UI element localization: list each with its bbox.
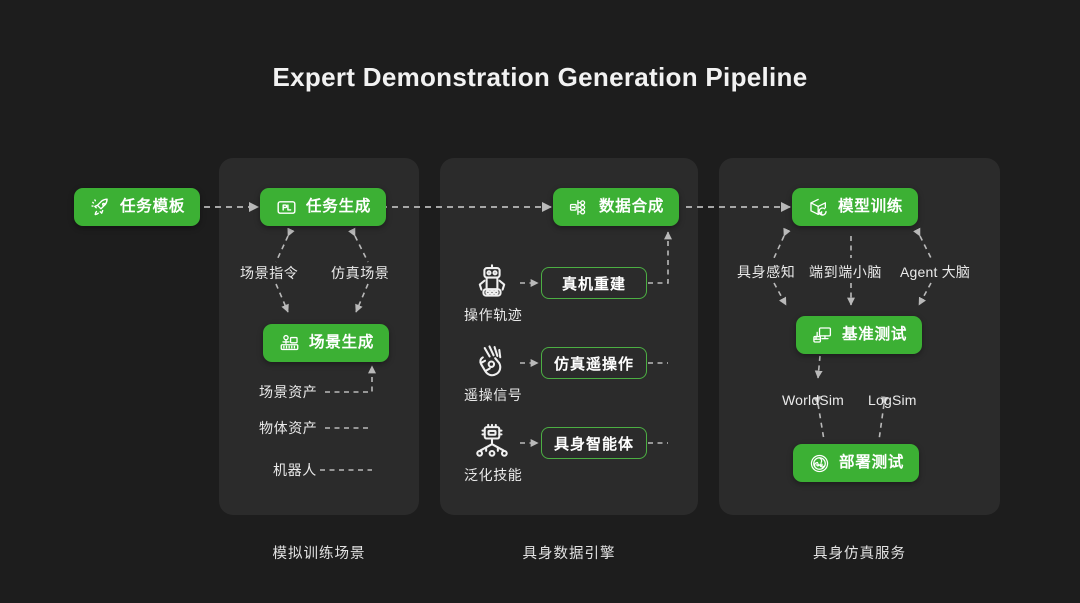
box-label: 仿真遥操作 [554, 353, 634, 374]
box-sim-teleoperation[interactable]: 仿真遥操作 [541, 347, 647, 379]
caption-panel-3: 具身仿真服务 [719, 542, 1000, 563]
data-nodes-icon [568, 196, 590, 218]
label-scene-assets: 场景资产 [259, 385, 317, 399]
robot-icon [473, 263, 511, 301]
label-logsim: LogSim [868, 393, 917, 407]
cube-refresh-icon [807, 196, 829, 218]
label-generalization-skill: 泛化技能 [464, 468, 522, 482]
monitor-benchmark-icon [811, 324, 833, 346]
label-agent-brain: Agent 大脑 [900, 265, 970, 279]
label-end-to-end-cerebellum: 端到端小脑 [809, 265, 882, 279]
caption-panel-1: 模拟训练场景 [219, 542, 419, 563]
node-data-synthesis[interactable]: 数据合成 [553, 188, 679, 226]
glove-icon [473, 343, 511, 381]
node-scene-generation[interactable]: 场景生成 [263, 324, 389, 362]
page-title: Expert Demonstration Generation Pipeline [0, 62, 1080, 93]
chip-network-icon [473, 423, 511, 461]
swirl-badge-icon [808, 452, 830, 474]
node-label: 任务模板 [120, 199, 185, 215]
node-label: 模型训练 [838, 199, 903, 215]
node-task-generation[interactable]: 任务生成 [260, 188, 386, 226]
label-embodied-perception: 具身感知 [737, 265, 795, 279]
box-real-machine-rebuild[interactable]: 真机重建 [541, 267, 647, 299]
node-label: 任务生成 [306, 199, 371, 215]
label-worldsim: WorldSim [782, 393, 844, 407]
label-operation-trajectory: 操作轨迹 [464, 308, 522, 322]
box-label: 具身智能体 [554, 433, 634, 454]
rocket-icon [89, 196, 111, 218]
label-teleop-signal: 遥操信号 [464, 388, 522, 402]
node-model-training[interactable]: 模型训练 [792, 188, 918, 226]
node-label: 部署测试 [839, 455, 904, 471]
label-sim-scene: 仿真场景 [331, 266, 389, 280]
node-task-template[interactable]: 任务模板 [74, 188, 200, 226]
label-object-assets: 物体资产 [259, 421, 317, 435]
caption-panel-2: 具身数据引擎 [440, 542, 698, 563]
label-scene-instruction: 场景指令 [240, 266, 298, 280]
node-label: 数据合成 [599, 199, 664, 215]
diagram-canvas: Expert Demonstration Generation Pipeline [0, 0, 1080, 603]
node-benchmark-test[interactable]: 基准测试 [796, 316, 922, 354]
box-embodied-agent[interactable]: 具身智能体 [541, 427, 647, 459]
node-deploy-test[interactable]: 部署测试 [793, 444, 919, 482]
node-label: 场景生成 [309, 335, 374, 351]
node-label: 基准测试 [842, 327, 907, 343]
box-label: 真机重建 [562, 273, 626, 294]
plan-board-icon [275, 196, 297, 218]
scene-robot-icon [278, 332, 300, 354]
label-robot: 机器人 [273, 463, 317, 477]
